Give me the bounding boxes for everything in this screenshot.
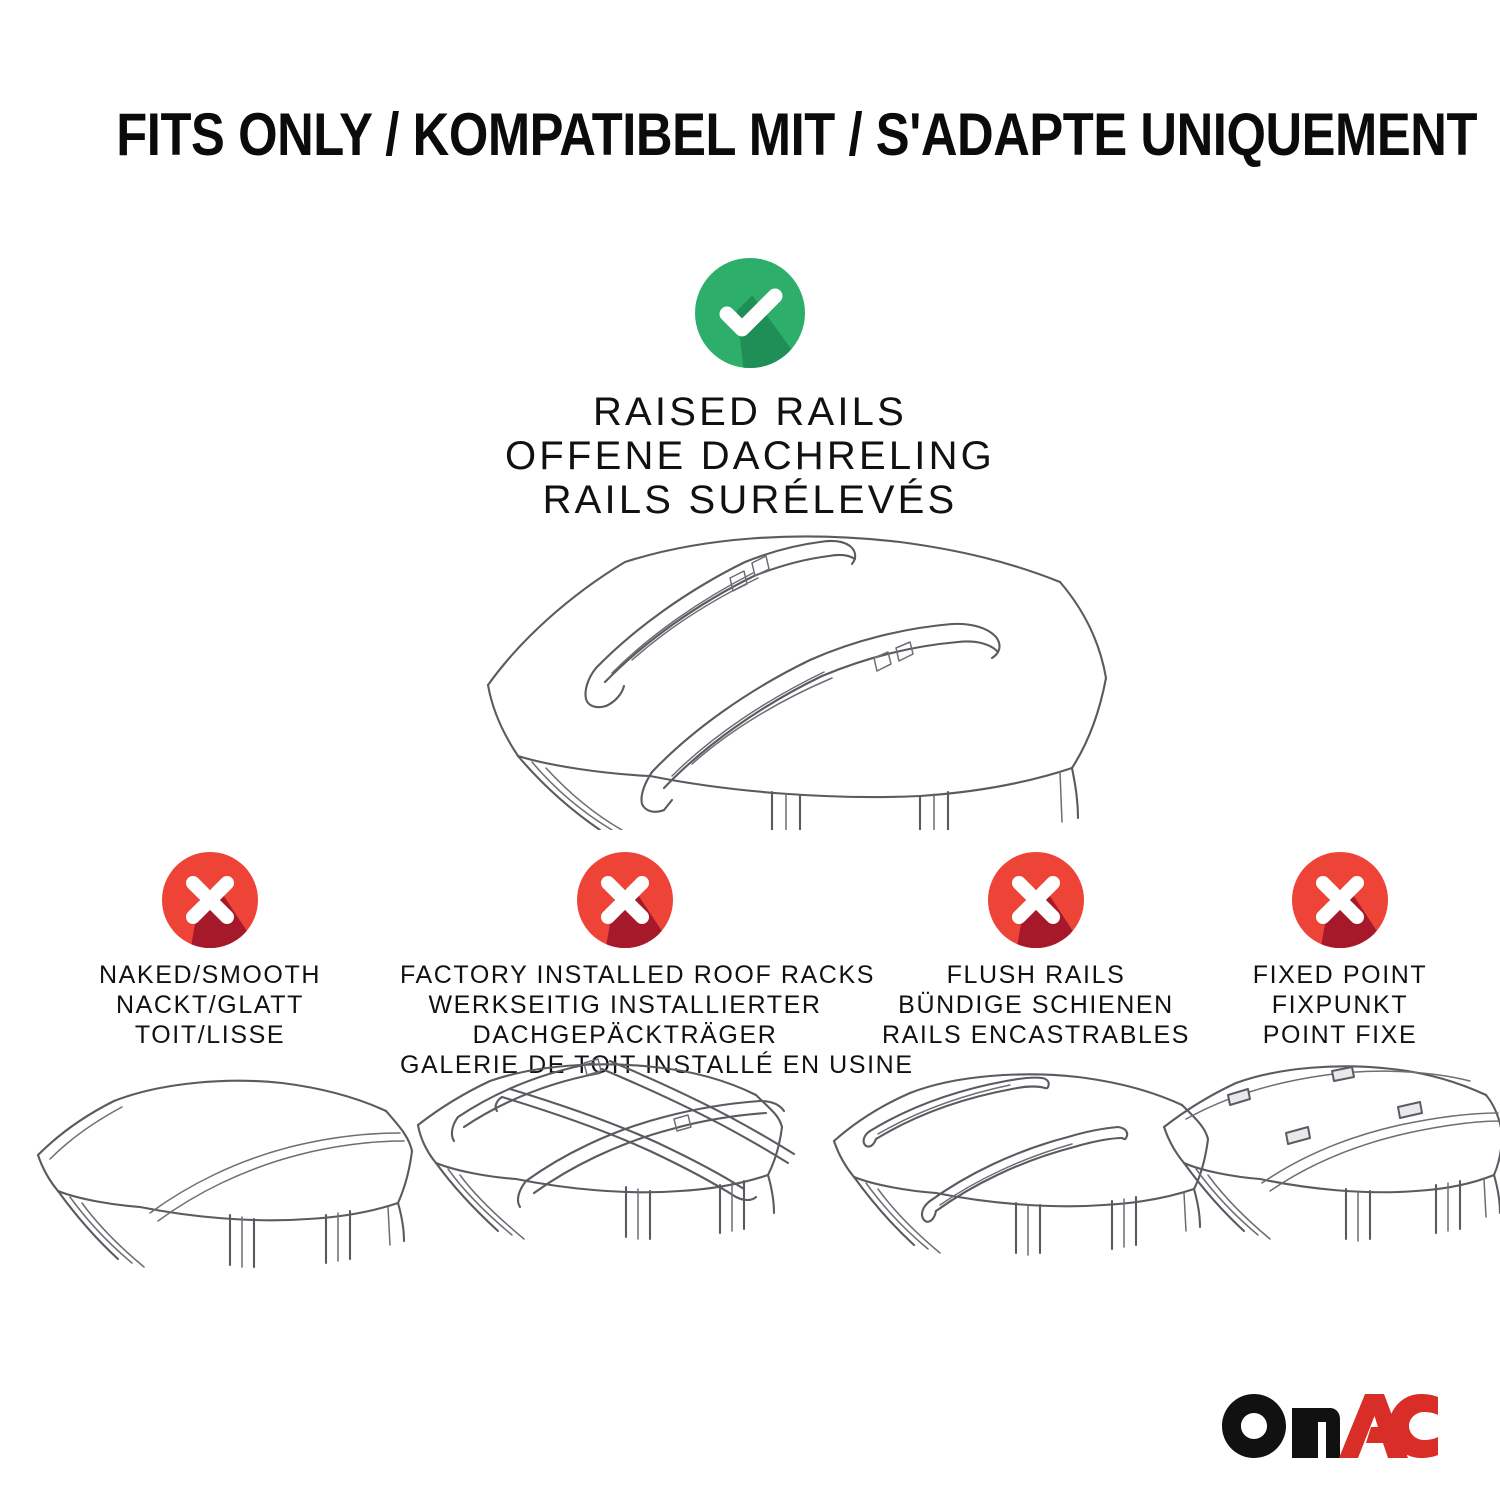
omac-logo-mark bbox=[1222, 1394, 1438, 1460]
rejected-column-fixed-point: FIXED POINT FIXPUNKT POINT FIXE bbox=[1160, 852, 1500, 1050]
rejected-label-2-line-1: FACTORY INSTALLED ROOF RACKS bbox=[400, 960, 850, 990]
x-glyph bbox=[1292, 852, 1388, 948]
x-glyph bbox=[988, 852, 1084, 948]
rejected-label-2-line-3: DACHGEPÄCKTRÄGER bbox=[400, 1020, 850, 1050]
rejected-column-factory-racks: FACTORY INSTALLED ROOF RACKS WERKSEITIG … bbox=[400, 852, 850, 1080]
check-circle-icon bbox=[695, 258, 805, 368]
illustration-fixed-point bbox=[1150, 1055, 1500, 1305]
approved-section: RAISED RAILS OFFENE DACHRELING RAILS SUR… bbox=[0, 258, 1500, 522]
approved-label-line-2: OFFENE DACHRELING bbox=[0, 434, 1500, 478]
rejected-label-1-line-2: NACKT/GLATT bbox=[10, 990, 410, 1020]
rejected-label-1-line-3: TOIT/LISSE bbox=[10, 1020, 410, 1050]
omac-logo bbox=[1222, 1394, 1438, 1460]
x-glyph bbox=[162, 852, 258, 948]
rejected-label-group-4: FIXED POINT FIXPUNKT POINT FIXE bbox=[1160, 960, 1500, 1050]
illustration-raised-rails bbox=[400, 500, 1120, 830]
x-circle-icon bbox=[1292, 852, 1388, 948]
x-circle-icon bbox=[577, 852, 673, 948]
x-circle-icon bbox=[988, 852, 1084, 948]
illustration-factory-installed-roof-racks bbox=[398, 1055, 798, 1305]
check-glyph bbox=[695, 258, 805, 368]
rejected-label-4-line-3: POINT FIXE bbox=[1160, 1020, 1500, 1050]
illustration-naked-smooth bbox=[30, 1055, 420, 1305]
page-title: FITS ONLY / KOMPATIBEL MIT / S'ADAPTE UN… bbox=[116, 103, 1384, 167]
rejected-label-1-line-1: NAKED/SMOOTH bbox=[10, 960, 410, 990]
rejected-label-group-1: NAKED/SMOOTH NACKT/GLATT TOIT/LISSE bbox=[10, 960, 410, 1050]
x-circle-icon bbox=[162, 852, 258, 948]
rejected-label-4-line-1: FIXED POINT bbox=[1160, 960, 1500, 990]
fitment-infographic: FITS ONLY / KOMPATIBEL MIT / S'ADAPTE UN… bbox=[0, 0, 1500, 1500]
x-glyph bbox=[577, 852, 673, 948]
rejected-label-4-line-2: FIXPUNKT bbox=[1160, 990, 1500, 1020]
rejected-label-2-line-2: WERKSEITIG INSTALLIERTER bbox=[400, 990, 850, 1020]
approved-label-line-1: RAISED RAILS bbox=[0, 390, 1500, 434]
logo-letter-o bbox=[1222, 1394, 1286, 1458]
rejected-column-naked-smooth: NAKED/SMOOTH NACKT/GLATT TOIT/LISSE bbox=[10, 852, 410, 1050]
